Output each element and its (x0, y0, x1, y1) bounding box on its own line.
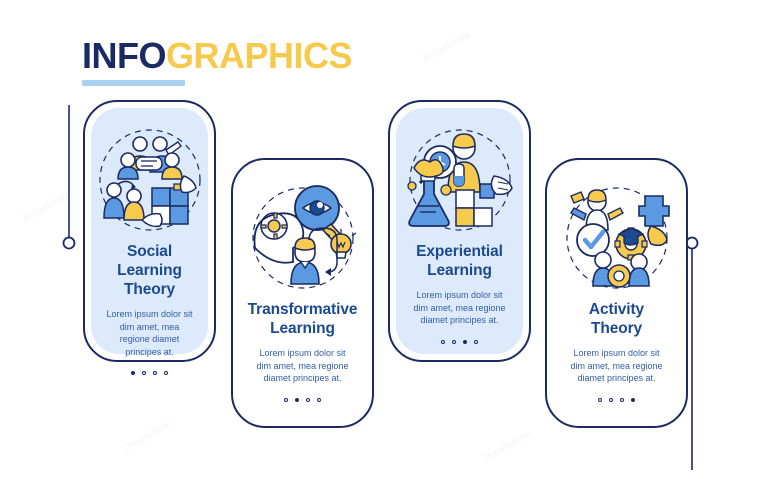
step-dot[interactable] (452, 340, 456, 344)
card-experiential-learning[interactable]: ExperientialLearning Lorem ipsum dolor s… (388, 100, 531, 362)
step-dot[interactable] (441, 340, 445, 344)
step-dot[interactable] (284, 398, 288, 402)
watermark: Dreamstime (121, 417, 174, 454)
card-body-text: Lorem ipsum dolor sit dim amet, mea regi… (253, 347, 352, 385)
card-body-text: Lorem ipsum dolor sit dim amet, mea regi… (567, 347, 666, 385)
page-title-part-info: INFO (82, 35, 166, 76)
group-discussion-puzzle-hands-icon (88, 124, 212, 236)
card-title: ActivityTheory (589, 300, 644, 338)
card-inner-panel: Social LearningTheory Lorem ipsum dolor … (91, 108, 208, 354)
step-dots[interactable] (598, 398, 635, 402)
circle-endpoint-right (687, 238, 698, 249)
step-dot[interactable] (631, 398, 635, 402)
step-dot[interactable] (164, 371, 168, 375)
infographic-canvas: Dreamstime Dreamstime Dreamstime Dreamst… (0, 0, 768, 479)
step-dot[interactable] (474, 340, 478, 344)
step-dot[interactable] (295, 398, 299, 402)
card-body-text: Lorem ipsum dolor sit dim amet, mea regi… (410, 289, 509, 327)
card-body-text: Lorem ipsum dolor sit dim amet, mea regi… (105, 308, 194, 358)
watermark: Dreamstime (481, 427, 534, 464)
step-dots[interactable] (441, 340, 478, 344)
step-dot[interactable] (598, 398, 602, 402)
step-dot[interactable] (609, 398, 613, 402)
flask-magnifier-puzzle-hand-icon (398, 124, 522, 236)
step-dot[interactable] (153, 371, 157, 375)
head-gear-magnifier-lightbulb-icon (241, 182, 365, 294)
page-title: INFOGRAPHICS (82, 36, 502, 76)
step-dot[interactable] (463, 340, 467, 344)
title-underline-bar (82, 80, 185, 86)
step-dots[interactable] (131, 371, 168, 375)
step-dot[interactable] (131, 371, 135, 375)
step-dot[interactable] (142, 371, 146, 375)
card-activity-theory[interactable]: ActivityTheory Lorem ipsum dolor sit dim… (545, 158, 688, 428)
page-title-part-graphics: GRAPHICS (166, 35, 352, 76)
card-transformative-learning[interactable]: TransformativeLearning Lorem ipsum dolor… (231, 158, 374, 428)
circle-endpoint-left (64, 238, 75, 249)
step-dot[interactable] (620, 398, 624, 402)
card-inner-panel: ActivityTheory Lorem ipsum dolor sit dim… (553, 166, 680, 420)
watermark: Dreamstime (21, 187, 74, 224)
card-inner-panel: ExperientialLearning Lorem ipsum dolor s… (396, 108, 523, 354)
card-title: Social LearningTheory (103, 242, 196, 299)
card-inner-panel: TransformativeLearning Lorem ipsum dolor… (239, 166, 366, 420)
card-title: ExperientialLearning (416, 242, 503, 280)
card-title: TransformativeLearning (248, 300, 358, 338)
page-header: INFOGRAPHICS (82, 36, 502, 96)
step-dot[interactable] (317, 398, 321, 402)
people-check-gear-graduation-puzzle-icon (555, 182, 679, 294)
step-dots[interactable] (284, 398, 321, 402)
card-social-learning-theory[interactable]: Social LearningTheory Lorem ipsum dolor … (83, 100, 216, 362)
step-dot[interactable] (306, 398, 310, 402)
